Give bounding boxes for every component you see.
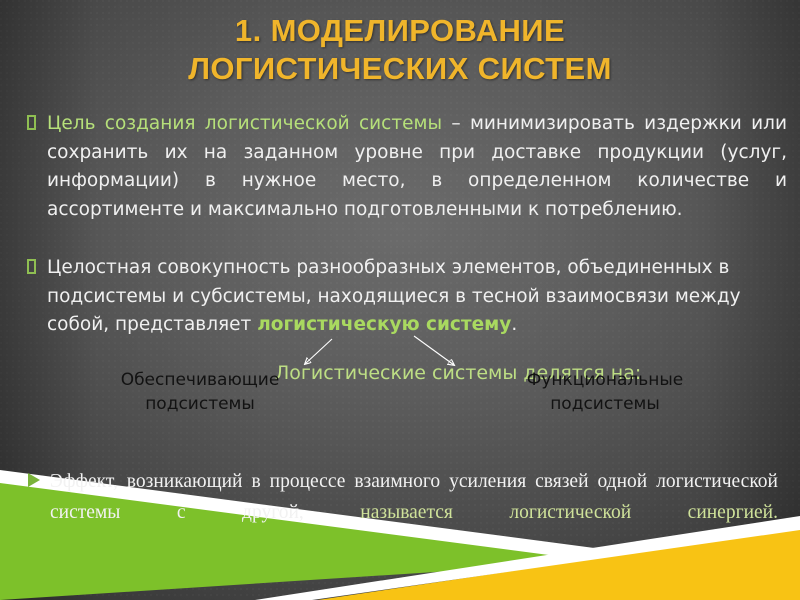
green-triangle-bullet-icon [28,473,40,487]
footer-paragraph: Эффект, возникающий в процессе взаимного… [28,466,783,528]
slide-canvas: 1. МОДЕЛИРОВАНИЕ ЛОГИСТИЧЕСКИХ СИСТЕМ Це… [0,0,800,600]
footer-part-2: называется логистической синергией. [360,502,778,523]
footer-paragraph-text: Эффект, возникающий в процессе взаимного… [50,466,778,528]
